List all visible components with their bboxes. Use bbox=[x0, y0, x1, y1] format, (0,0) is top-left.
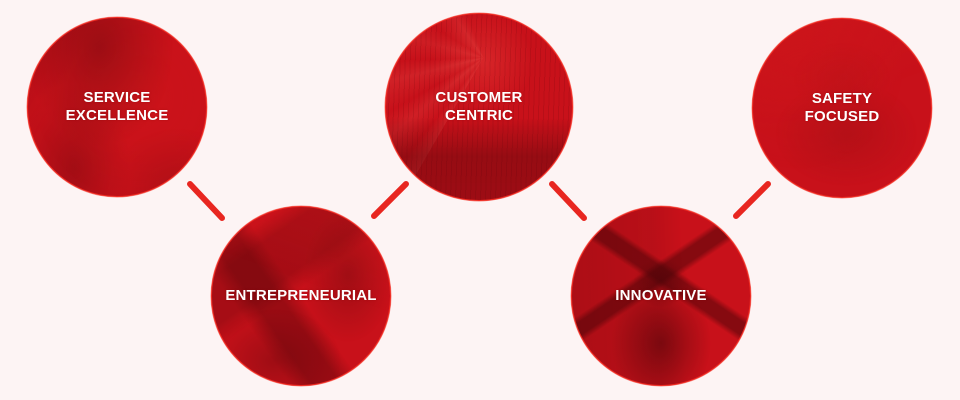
value-circle-safety-focused[interactable]: SAFETY FOCUSED bbox=[752, 18, 932, 198]
connector-entrepreneurial-customer-centric bbox=[374, 184, 406, 216]
connector-customer-centric-innovative bbox=[552, 184, 584, 218]
value-circle-service-excellence[interactable]: SERVICE EXCELLENCE bbox=[27, 17, 207, 197]
value-circle-innovative[interactable]: INNOVATIVE bbox=[571, 206, 751, 386]
value-label-customer-centric: CUSTOMER CENTRIC bbox=[435, 89, 522, 126]
value-circle-entrepreneurial[interactable]: ENTREPRENEURIAL bbox=[211, 206, 391, 386]
value-label-service-excellence: SERVICE EXCELLENCE bbox=[66, 89, 169, 126]
value-label-entrepreneurial: ENTREPRENEURIAL bbox=[225, 287, 376, 305]
values-diagram: SERVICE EXCELLENCE ENTREPRENEURIAL CUSTO… bbox=[0, 0, 960, 400]
value-label-innovative: INNOVATIVE bbox=[615, 287, 706, 305]
value-circle-customer-centric[interactable]: CUSTOMER CENTRIC bbox=[385, 13, 573, 201]
connector-innovative-safety-focused bbox=[736, 184, 768, 216]
connector-service-excellence-entrepreneurial bbox=[190, 184, 222, 218]
value-label-safety-focused: SAFETY FOCUSED bbox=[805, 90, 880, 127]
